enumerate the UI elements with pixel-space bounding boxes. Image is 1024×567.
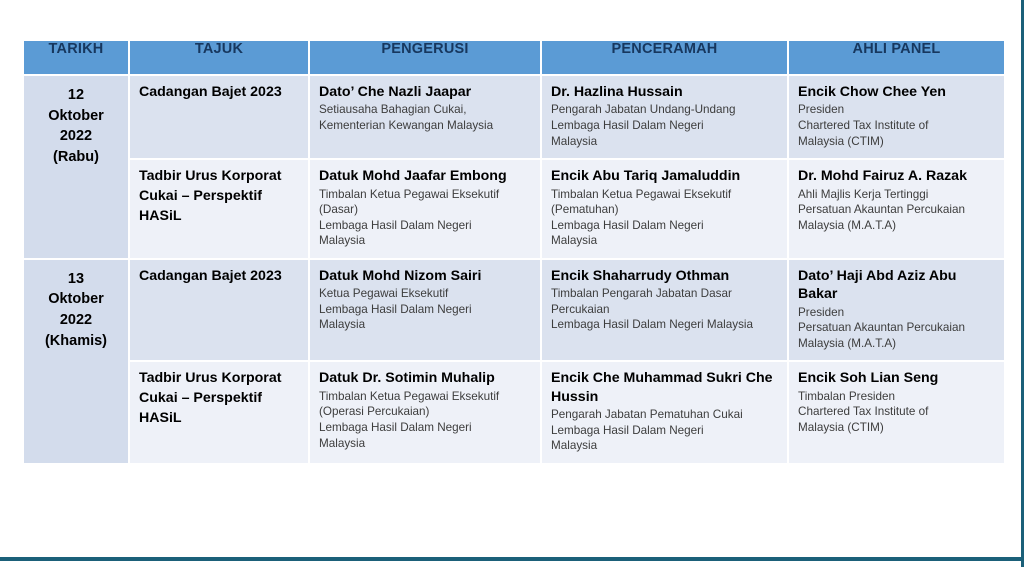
detail-line: Timbalan Ketua Pegawai Eksekutif: [319, 389, 531, 405]
detail-line: Lembaga Hasil Dalam Negeri Malaysia: [551, 317, 778, 333]
column-header-tarikh: TARIKH: [24, 41, 128, 74]
penceramah-cell: Dr. Hazlina Hussain Pengarah Jabatan Und…: [542, 76, 787, 158]
person-name: Dato’ Che Nazli Jaapar: [319, 83, 531, 101]
date-line: 12: [24, 85, 128, 106]
column-header-tajuk: TAJUK: [130, 41, 308, 74]
topic-line: 2023: [250, 84, 282, 100]
detail-line: Persatuan Akauntan Percukaian: [798, 202, 995, 218]
detail-line: Malaysia: [551, 134, 778, 150]
person-name: Dr. Hazlina Hussain: [551, 83, 778, 101]
topic-cell: Cadangan Bajet 2023: [130, 260, 308, 361]
person-details: Pengarah Jabatan Undang-Undang Lembaga H…: [551, 102, 778, 149]
detail-line: Malaysia (CTIM): [798, 134, 995, 150]
detail-line: Timbalan Ketua Pegawai Eksekutif: [551, 187, 778, 203]
detail-line: Malaysia: [319, 317, 531, 333]
detail-line: Ketua Pegawai Eksekutif: [319, 286, 531, 302]
person-name: Datuk Dr. Sotimin Muhalip: [319, 369, 531, 387]
person-details: Timbalan Presiden Chartered Tax Institut…: [798, 389, 995, 436]
person-details: Presiden Persatuan Akauntan Percukaian M…: [798, 305, 995, 352]
detail-line: Chartered Tax Institute of: [798, 404, 995, 420]
topic-title: Tadbir Urus Korporat Cukai – Perspektif …: [139, 167, 299, 227]
detail-line: Chartered Tax Institute of: [798, 118, 995, 134]
person-details: Timbalan Ketua Pegawai Eksekutif (Dasar)…: [319, 187, 531, 249]
person-name: Encik Shaharrudy Othman: [551, 267, 778, 285]
seminar-schedule-table: TARIKH TAJUK PENGERUSI PENCERAMAH AHLI P…: [22, 39, 1006, 465]
detail-line: Persatuan Akauntan Percukaian: [798, 320, 995, 336]
table-row: Tadbir Urus Korporat Cukai – Perspektif …: [24, 362, 1004, 463]
detail-line: Setiausaha Bahagian Cukai,: [319, 102, 531, 118]
topic-line: Tadbir Urus: [139, 370, 218, 386]
detail-line: Timbalan Ketua Pegawai Eksekutif: [319, 187, 531, 203]
slide-bottom-accent-rule: [0, 557, 1024, 561]
detail-line: Pengarah Jabatan Undang-Undang: [551, 102, 778, 118]
topic-title: Cadangan Bajet 2023: [139, 267, 299, 287]
detail-line: Malaysia: [319, 233, 531, 249]
person-details: Timbalan Ketua Pegawai Eksekutif (Pematu…: [551, 187, 778, 249]
person-name: Encik Soh Lian Seng: [798, 369, 995, 387]
detail-line: Malaysia: [551, 438, 778, 454]
detail-line: Malaysia: [551, 233, 778, 249]
column-header-pengerusi: PENGERUSI: [310, 41, 540, 74]
pengerusi-cell: Datuk Mohd Nizom Sairi Ketua Pegawai Eks…: [310, 260, 540, 361]
person-details: Presiden Chartered Tax Institute of Mala…: [798, 102, 995, 149]
person-details: Timbalan Ketua Pegawai Eksekutif (Operas…: [319, 389, 531, 451]
detail-line: Lembaga Hasil Dalam Negeri: [319, 420, 531, 436]
detail-line: Malaysia (M.A.T.A): [798, 336, 995, 352]
topic-cell: Tadbir Urus Korporat Cukai – Perspektif …: [130, 362, 308, 463]
pengerusi-cell: Datuk Dr. Sotimin Muhalip Timbalan Ketua…: [310, 362, 540, 463]
person-name: Datuk Mohd Jaafar Embong: [319, 167, 531, 185]
detail-line: Malaysia (CTIM): [798, 420, 995, 436]
table-body: 12 Oktober 2022 (Rabu) Cadangan Bajet 20…: [24, 76, 1004, 463]
detail-line: (Pematuhan): [551, 202, 778, 218]
penceramah-cell: Encik Shaharrudy Othman Timbalan Pengara…: [542, 260, 787, 361]
pengerusi-cell: Datuk Mohd Jaafar Embong Timbalan Ketua …: [310, 160, 540, 258]
detail-line: Timbalan Pengarah Jabatan Dasar: [551, 286, 778, 302]
person-name: Encik Chow Chee Yen: [798, 83, 995, 101]
detail-line: Percukaian: [551, 302, 778, 318]
topic-line: 2023: [250, 268, 282, 284]
detail-line: Ahli Majlis Kerja Tertinggi: [798, 187, 995, 203]
person-details: Setiausaha Bahagian Cukai, Kementerian K…: [319, 102, 531, 133]
penceramah-cell: Encik Che Muhammad Sukri Che Hussin Peng…: [542, 362, 787, 463]
table-row: 13 Oktober 2022 (Khamis) Cadangan Bajet …: [24, 260, 1004, 361]
date-line: Oktober: [24, 289, 128, 310]
detail-line: (Operasi Percukaian): [319, 404, 531, 420]
detail-line: Timbalan Presiden: [798, 389, 995, 405]
pengerusi-cell: Dato’ Che Nazli Jaapar Setiausaha Bahagi…: [310, 76, 540, 158]
date-cell-day-1: 12 Oktober 2022 (Rabu): [24, 76, 128, 258]
person-name: Datuk Mohd Nizom Sairi: [319, 267, 531, 285]
person-name: Dato’ Haji Abd Aziz Abu Bakar: [798, 267, 995, 304]
date-line: (Rabu): [24, 147, 128, 168]
table-header: TARIKH TAJUK PENGERUSI PENCERAMAH AHLI P…: [24, 41, 1004, 74]
detail-line: Kementerian Kewangan Malaysia: [319, 118, 531, 134]
table-header-row: TARIKH TAJUK PENGERUSI PENCERAMAH AHLI P…: [24, 41, 1004, 74]
topic-cell: Tadbir Urus Korporat Cukai – Perspektif …: [130, 160, 308, 258]
slide-canvas: TARIKH TAJUK PENGERUSI PENCERAMAH AHLI P…: [0, 0, 1024, 567]
person-details: Ketua Pegawai Eksekutif Lembaga Hasil Da…: [319, 286, 531, 333]
penceramah-cell: Encik Abu Tariq Jamaluddin Timbalan Ketu…: [542, 160, 787, 258]
topic-cell: Cadangan Bajet 2023: [130, 76, 308, 158]
topic-title: Cadangan Bajet 2023: [139, 83, 299, 103]
ahli-panel-cell: Encik Chow Chee Yen Presiden Chartered T…: [789, 76, 1004, 158]
person-name: Encik Che Muhammad Sukri Che Hussin: [551, 369, 778, 406]
person-details: Pengarah Jabatan Pematuhan Cukai Lembaga…: [551, 407, 778, 454]
detail-line: Presiden: [798, 305, 995, 321]
detail-line: Malaysia (M.A.T.A): [798, 218, 995, 234]
ahli-panel-cell: Encik Soh Lian Seng Timbalan Presiden Ch…: [789, 362, 1004, 463]
table-row: 12 Oktober 2022 (Rabu) Cadangan Bajet 20…: [24, 76, 1004, 158]
detail-line: Pengarah Jabatan Pematuhan Cukai: [551, 407, 778, 423]
column-header-penceramah: PENCERAMAH: [542, 41, 787, 74]
table-row: Tadbir Urus Korporat Cukai – Perspektif …: [24, 160, 1004, 258]
detail-line: Lembaga Hasil Dalam Negeri: [319, 218, 531, 234]
ahli-panel-cell: Dr. Mohd Fairuz A. Razak Ahli Majlis Ker…: [789, 160, 1004, 258]
topic-line: Tadbir Urus: [139, 168, 218, 184]
topic-line: Cadangan Bajet: [139, 268, 246, 284]
detail-line: Lembaga Hasil Dalam Negeri: [551, 118, 778, 134]
person-details: Timbalan Pengarah Jabatan Dasar Percukai…: [551, 286, 778, 333]
ahli-panel-cell: Dato’ Haji Abd Aziz Abu Bakar Presiden P…: [789, 260, 1004, 361]
detail-line: Presiden: [798, 102, 995, 118]
detail-line: Malaysia: [319, 436, 531, 452]
detail-line: (Dasar): [319, 202, 531, 218]
topic-line: Cadangan Bajet: [139, 84, 246, 100]
column-header-ahli-panel: AHLI PANEL: [789, 41, 1004, 74]
date-line: 2022: [24, 310, 128, 331]
date-line: (Khamis): [24, 331, 128, 352]
detail-line: Lembaga Hasil Dalam Negeri: [319, 302, 531, 318]
topic-title: Tadbir Urus Korporat Cukai – Perspektif …: [139, 369, 299, 429]
date-cell-day-2: 13 Oktober 2022 (Khamis): [24, 260, 128, 463]
person-details: Ahli Majlis Kerja Tertinggi Persatuan Ak…: [798, 187, 995, 234]
date-line: 2022: [24, 126, 128, 147]
person-name: Dr. Mohd Fairuz A. Razak: [798, 167, 995, 185]
detail-line: Lembaga Hasil Dalam Negeri: [551, 423, 778, 439]
detail-line: Lembaga Hasil Dalam Negeri: [551, 218, 778, 234]
date-line: 13: [24, 269, 128, 290]
person-name: Encik Abu Tariq Jamaluddin: [551, 167, 778, 185]
date-line: Oktober: [24, 106, 128, 127]
